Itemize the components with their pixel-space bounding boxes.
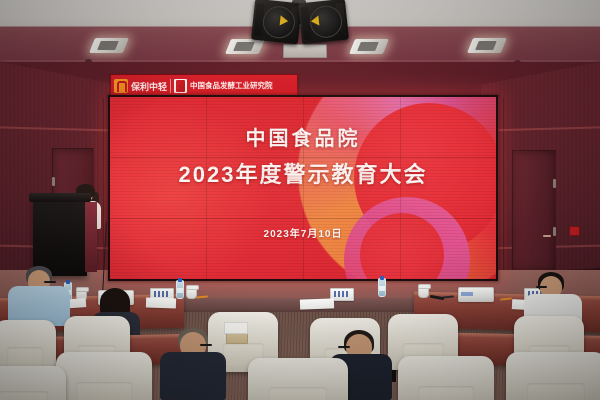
audience-chair[interactable] — [0, 366, 66, 400]
person-torso — [160, 352, 226, 400]
led-title-line1: 中国食品院 — [110, 122, 496, 151]
banner-brand-left: 保利中轻 — [131, 80, 167, 93]
ceiling-light-icon — [467, 38, 507, 53]
tea-cup — [418, 285, 429, 298]
audience-chair[interactable] — [398, 356, 494, 400]
speaker-left — [251, 0, 302, 44]
paper-document — [300, 298, 334, 309]
conference-hall-photo: 保利中轻 中国食品发酵工业研究院 中国食品院 2023年度警示教育大会 2023… — [0, 0, 600, 400]
led-date: 2023年7月10日 — [110, 225, 496, 240]
podium — [33, 198, 87, 276]
wall-panel-line — [503, 98, 504, 288]
poly-logo-icon — [114, 79, 128, 93]
led-title-line2: 2023年度警示教育大会 — [110, 157, 496, 189]
water-bottle — [378, 278, 386, 297]
led-screen: 中国食品院 2023年度警示教育大会 2023年7月10日 — [108, 95, 498, 281]
chair-pocket-document — [226, 326, 248, 344]
door-handle[interactable] — [543, 235, 551, 237]
speaker-right — [298, 0, 349, 44]
triangle-logo-icon — [280, 15, 289, 26]
triangle-logo-icon — [310, 16, 319, 27]
ceiling-light-icon — [349, 39, 389, 54]
ceiling-light-icon — [89, 38, 129, 53]
glasses-icon — [536, 286, 547, 288]
door-right[interactable] — [512, 150, 556, 272]
glasses-icon — [44, 281, 56, 283]
ceiling-panel — [283, 44, 327, 58]
tissue-box — [458, 287, 494, 302]
glasses-icon — [338, 346, 350, 348]
audience-chair[interactable] — [506, 352, 600, 400]
water-bottle — [176, 280, 184, 299]
paper-document — [146, 297, 176, 308]
glasses-icon — [200, 344, 212, 346]
institute-logo-icon — [174, 79, 187, 93]
ceiling-light-icon — [225, 39, 265, 54]
banner-divider — [170, 79, 171, 93]
fire-alarm-icon — [569, 226, 580, 236]
banner-brand-right: 中国食品发酵工业研究院 — [190, 82, 273, 90]
audience-chair[interactable] — [56, 352, 152, 400]
audience-chair[interactable] — [248, 358, 348, 400]
